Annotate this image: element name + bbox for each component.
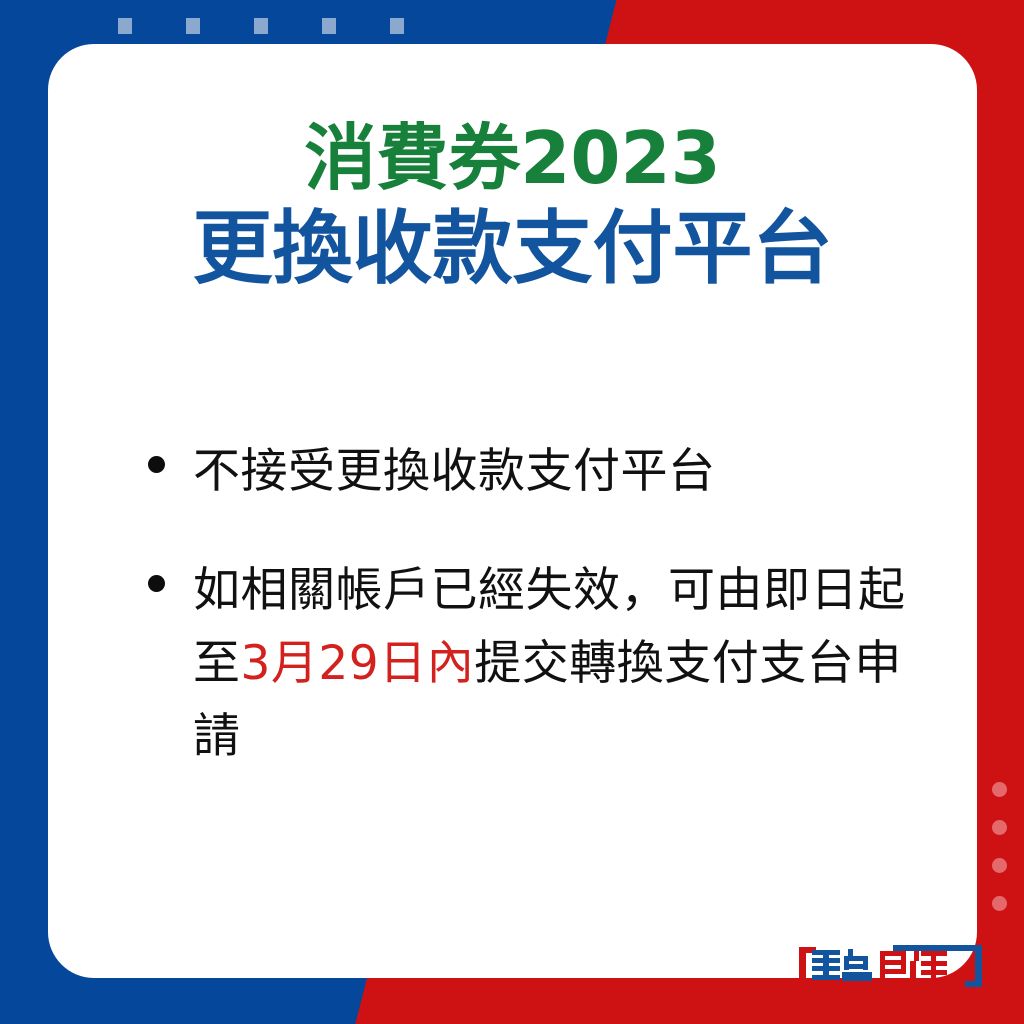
- top-square-dot: [390, 18, 404, 34]
- title-line-secondary: 更換收款支付平台: [48, 206, 977, 292]
- side-round-dot: [992, 858, 1007, 873]
- list-item: 如相關帳戶已經失效，可由即日起至3月29日內提交轉換支付支台申請: [148, 555, 948, 774]
- list-item-segment: 不接受更換收款支付平台: [193, 444, 716, 499]
- poster-canvas: 消費券2023 更換收款支付平台 不接受更換收款支付平台 如相關帳戶已經失效，可…: [0, 0, 1024, 1024]
- top-square-dot: [186, 18, 200, 34]
- top-square-dot: [254, 18, 268, 34]
- bullet-list: 不接受更換收款支付平台 如相關帳戶已經失效，可由即日起至3月29日內提交轉換支付…: [148, 436, 948, 819]
- list-item-text: 如相關帳戶已經失效，可由即日起至3月29日內提交轉換支付支台申請: [193, 555, 948, 774]
- page-title: 消費券2023 更換收款支付平台: [48, 120, 977, 292]
- top-decorative-squares: [118, 18, 404, 34]
- top-square-dot: [322, 18, 336, 34]
- bullet-dot-icon: [148, 456, 165, 473]
- top-square-dot: [118, 18, 132, 34]
- side-round-dot: [992, 782, 1007, 797]
- title-line-primary: 消費券2023: [48, 120, 977, 198]
- list-item: 不接受更換收款支付平台: [148, 436, 948, 509]
- side-round-dot: [992, 820, 1007, 835]
- publisher-logo: [796, 941, 986, 995]
- deadline-highlight: 3月29日內: [241, 636, 475, 691]
- side-round-dot: [992, 896, 1007, 911]
- bullet-dot-icon: [148, 575, 165, 592]
- side-decorative-dots: [992, 782, 1007, 911]
- list-item-text: 不接受更換收款支付平台: [193, 436, 716, 509]
- content-card: 消費券2023 更換收款支付平台 不接受更換收款支付平台 如相關帳戶已經失效，可…: [48, 44, 977, 978]
